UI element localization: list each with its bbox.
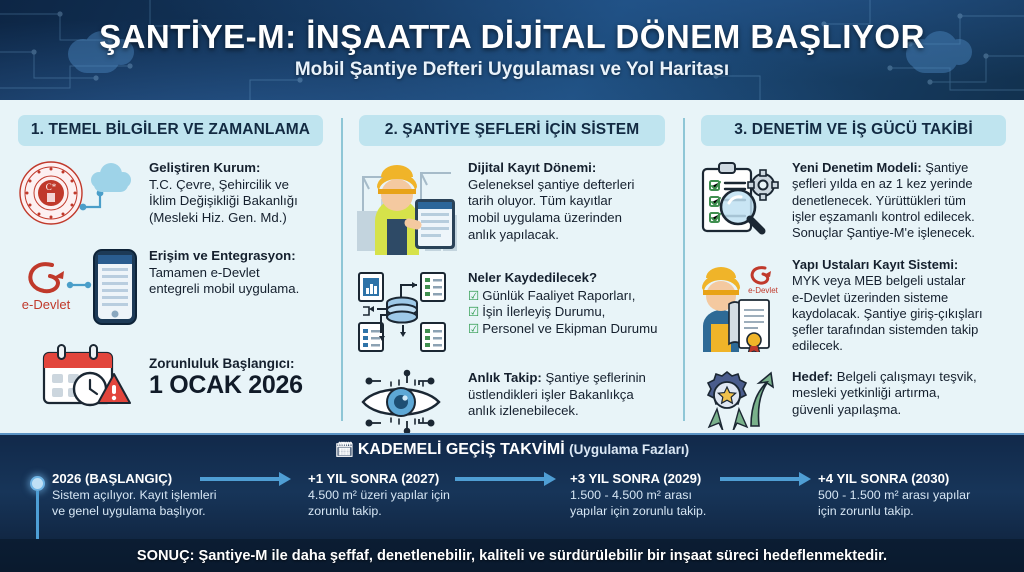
item-new-inspection-model: Yeni Denetim Modeli: Şantiye şefleri yıl… [697, 159, 1010, 243]
digital-record-period-line-2: tarih oluyor. Tüm kayıtlar [468, 193, 612, 208]
list-item: ☑İşin İlerleyiş Durumu, [468, 304, 657, 321]
timeline-arrow-3 [720, 477, 800, 481]
realtime-tracking-label: Anlık Takip: [468, 370, 542, 385]
database-documents-icon [355, 269, 459, 355]
footer-conclusion-text: SONUÇ: Şantiye-M ile daha şeffaf, denetl… [137, 548, 887, 564]
realtime-tracking-line-1: üstlendikleri işler Bakanlıkça [468, 387, 634, 402]
developer-institution-line-1: T.C. Çevre, Şehircilik ve [149, 177, 289, 192]
master-registry-line-3: kaydolacak. Şantiye giriş-çıkışları [792, 306, 983, 321]
checklist-label-1: Günlük Faaliyet Raporları, [482, 288, 635, 303]
timeline-node-4-name: +4 YIL SONRA (2030) [818, 471, 1018, 486]
ministry-emblem-cloud-icon: C* [14, 159, 140, 231]
master-registry-line-1: MYK veya MEB belgeli ustalar [792, 273, 965, 288]
timeline-subtitle: (Uygulama Fazları) [569, 442, 689, 457]
column-basic-info: 1. TEMEL BİLGİLER VE ZAMANLAMA C* [0, 100, 341, 433]
new-inspection-model-line-2: denetlenecek. Yürüttükleri tüm [792, 193, 966, 208]
edevlet-phone-icon: e-Devlet [14, 247, 140, 327]
new-inspection-model-line-3: işler eşzamanlı kontrol edilecek. [792, 209, 975, 224]
timeline-node-3-desc-line-2: yapılar için zorunlu takip. [570, 504, 706, 518]
timeline-node-4-desc-line-1: 500 - 1.500 m² arası yapılar [818, 488, 970, 502]
new-inspection-model-label: Yeni Denetim Modeli: [792, 160, 922, 175]
master-registry-system-label: Yapı Ustaları Kayıt Sistemi: [792, 257, 983, 273]
developer-institution-line-3: (Mesleki Hiz. Gen. Md.) [149, 210, 287, 225]
column-site-chief-system: 2. ŞANTİYE ŞEFLERİ İÇİN SİSTEM [341, 100, 683, 433]
timeline-node-2-desc: 4.500 m² üzeri yapılar için zorunlu taki… [308, 488, 508, 520]
timeline-start-dot [30, 476, 45, 491]
timeline-title: KADEMELİ GEÇİŞ TAKVİMİ [358, 441, 565, 458]
timeline-node-1-desc: Sistem açılıyor. Kayıt işlemleri ve gene… [52, 488, 257, 520]
goal-line-1: mesleki yetkinliği artırma, [792, 385, 940, 400]
column-1-heading: 1. TEMEL BİLGİLER VE ZAMANLAMA [18, 115, 323, 146]
footer-conclusion-bar: SONUÇ: Şantiye-M ile daha şeffaf, denetl… [0, 539, 1024, 572]
timeline-node-4-desc: 500 - 1.500 m² arası yapılar için zorunl… [818, 488, 1018, 520]
timeline-node-1-desc-line-2: ve genel uygulama başlıyor. [52, 504, 206, 518]
svg-text:e-Devlet: e-Devlet [748, 286, 779, 295]
calendar-clock-warning-icon [14, 343, 140, 409]
page-subtitle: Mobil Şantiye Defteri Uygulaması ve Yol … [0, 59, 1024, 81]
timeline-node-2-desc-line-1: 4.500 m² üzeri yapılar için [308, 488, 450, 502]
item-access-integration: e-Devlet Erişim ve Entegrasyon: Ta [14, 247, 327, 327]
digital-record-period-text: Dijital Kayıt Dönemi: Geleneksel şantiye… [468, 159, 634, 243]
award-growth-icon [697, 368, 783, 430]
realtime-tracking-text: Anlık Takip: Şantiye şeflerinin üstlendi… [468, 369, 646, 420]
timeline-node-2-desc-line-2: zorunlu takip. [308, 504, 382, 518]
timeline-title-row: 🗓KADEMELİ GEÇİŞ TAKVİMİ (Uygulama Fazlar… [0, 441, 1024, 459]
timeline-node-4-desc-line-2: için zorunlu takip. [818, 504, 914, 518]
goal-label: Hedef: [792, 369, 833, 384]
goal-inline: Belgeli çalışmayı teşvik, [837, 369, 977, 384]
header-banner: ŞANTİYE-M: İNŞAATTA DİJİTAL DÖNEM BAŞLIY… [0, 0, 1024, 100]
new-inspection-model-text: Yeni Denetim Modeli: Şantiye şefleri yıl… [792, 159, 975, 241]
goal-text: Hedef: Belgeli çalışmayı teşvik, mesleki… [792, 368, 977, 419]
calendar-icon: 🗓 [335, 442, 354, 459]
developer-institution-label: Geliştiren Kurum: [149, 160, 298, 177]
master-registry-line-4: şefler tarafından sistemden takip [792, 322, 978, 337]
svg-text:e-Devlet: e-Devlet [22, 297, 71, 312]
worker-tablet-icon [355, 159, 459, 255]
timeline-node-3-desc: 1.500 - 4.500 m² arası yapılar için zoru… [570, 488, 770, 520]
realtime-tracking-inline: Şantiye şeflerinin [545, 370, 645, 385]
mandatory-start-text: Zorunluluk Başlangıcı: 1 OCAK 2026 [149, 354, 303, 399]
timeline-node-4: +4 YIL SONRA (2030) 500 - 1.500 m² arası… [818, 471, 1018, 520]
master-registry-line-2: e-Devlet üzerinden sisteme [792, 290, 948, 305]
what-will-be-recorded-label: Neler Kaydedilecek? [468, 270, 657, 287]
digital-eye-icon [355, 369, 459, 435]
timeline-node-1-desc-line-1: Sistem açılıyor. Kayıt işlemleri [52, 488, 217, 502]
column-2-heading: 2. ŞANTİYE ŞEFLERİ İÇİN SİSTEM [359, 115, 665, 146]
checklist-label-3: Personel ve Ekipman Durumu [482, 321, 657, 336]
item-master-registry-system: e-Devlet Yapı Us [697, 256, 1010, 355]
goal-line-2: güvenli yapılaşma. [792, 402, 901, 417]
item-developer-institution: C* [14, 159, 327, 231]
main-content: 1. TEMEL BİLGİLER VE ZAMANLAMA C* [0, 100, 1024, 433]
digital-record-period-line-4: anlık yapılacak. [468, 227, 559, 242]
check-icon: ☑ [468, 305, 479, 319]
timeline-section: 🗓KADEMELİ GEÇİŞ TAKVİMİ (Uygulama Fazlar… [0, 433, 1024, 539]
developer-institution-text: Geliştiren Kurum: T.C. Çevre, Şehircilik… [149, 159, 298, 227]
item-realtime-tracking: Anlık Takip: Şantiye şeflerinin üstlendi… [355, 369, 669, 435]
what-will-be-recorded-text: Neler Kaydedilecek? ☑Günlük Faaliyet Rap… [468, 269, 657, 338]
timeline-arrow-2 [455, 477, 545, 481]
realtime-tracking-line-2: anlık izlenebilecek. [468, 403, 579, 418]
master-registry-line-5: edilecek. [792, 338, 843, 353]
clipboard-gear-magnifier-icon [697, 159, 783, 243]
access-integration-line-2: entegreli mobil uygulama. [149, 281, 299, 296]
master-registry-system-text: Yapı Ustaları Kayıt Sistemi: MYK veya ME… [792, 256, 983, 355]
mandatory-start-date: 1 OCAK 2026 [149, 372, 303, 398]
master-worker-certificate-icon: e-Devlet [697, 256, 783, 352]
digital-record-period-label: Dijital Kayıt Dönemi: [468, 160, 634, 177]
new-inspection-model-inline: Şantiye [925, 160, 968, 175]
item-what-will-be-recorded: Neler Kaydedilecek? ☑Günlük Faaliyet Rap… [355, 269, 669, 355]
access-integration-label: Erişim ve Entegrasyon: [149, 248, 299, 265]
new-inspection-model-line-1: şefleri yılda en az 1 kez yerinde [792, 176, 973, 191]
timeline-nodes: 2026 (BAŞLANGIÇ) Sistem açılıyor. Kayıt … [0, 471, 1024, 539]
new-inspection-model-line-4: Sonuçlar Şantiye-M'e işlenecek. [792, 225, 975, 240]
item-mandatory-start: Zorunluluk Başlangıcı: 1 OCAK 2026 [14, 343, 327, 409]
check-icon: ☑ [468, 289, 479, 303]
svg-text:C*: C* [46, 182, 57, 192]
digital-record-period-line-3: mobil uygulama üzerinden [468, 210, 622, 225]
page-title: ŞANTİYE-M: İNŞAATTA DİJİTAL DÖNEM BAŞLIY… [0, 18, 1024, 56]
item-goal: Hedef: Belgeli çalışmayı teşvik, mesleki… [697, 368, 1010, 430]
timeline-node-3-desc-line-1: 1.500 - 4.500 m² arası [570, 488, 692, 502]
item-digital-record-period: Dijital Kayıt Dönemi: Geleneksel şantiye… [355, 159, 669, 255]
record-checklist: ☑Günlük Faaliyet Raporları, ☑İşin İlerle… [468, 288, 657, 338]
checklist-label-2: İşin İlerleyiş Durumu, [482, 304, 605, 319]
check-icon: ☑ [468, 322, 479, 336]
developer-institution-line-2: İklim Değişikliği Bakanlığı [149, 193, 298, 208]
list-item: ☑Günlük Faaliyet Raporları, [468, 288, 657, 305]
mandatory-start-label: Zorunluluk Başlangıcı: [149, 356, 295, 371]
timeline-start-stem [36, 491, 39, 539]
digital-record-period-line-1: Geleneksel şantiye defterleri [468, 177, 634, 192]
column-inspection-workforce: 3. DENETİM VE İŞ GÜCÜ TAKİBİ [683, 100, 1024, 433]
timeline-arrow-1 [200, 477, 280, 481]
list-item: ☑Personel ve Ekipman Durumu [468, 321, 657, 338]
column-3-heading: 3. DENETİM VE İŞ GÜCÜ TAKİBİ [701, 115, 1006, 146]
access-integration-line-1: Tamamen e-Devlet [149, 265, 260, 280]
access-integration-text: Erişim ve Entegrasyon: Tamamen e-Devlet … [149, 247, 299, 298]
